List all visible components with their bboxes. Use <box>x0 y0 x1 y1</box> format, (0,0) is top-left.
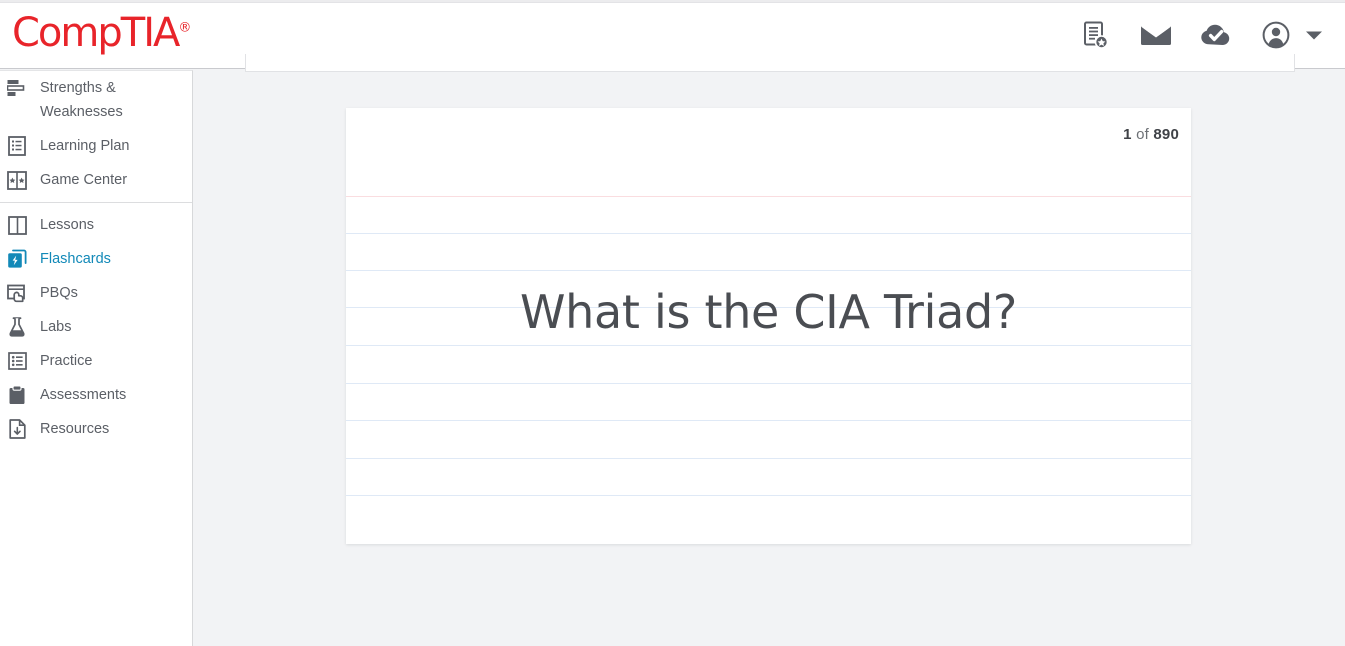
clipboard-icon <box>6 383 28 407</box>
sidebar-item-label: Assessments <box>40 383 126 407</box>
sidebar-item-label: Learning Plan <box>40 134 130 158</box>
chevron-down-icon[interactable] <box>1305 29 1323 41</box>
sidebar-item-resources[interactable]: Resources <box>0 412 192 446</box>
flashcard-counter-separator: of <box>1132 126 1154 143</box>
sidebar-item-game-center[interactable]: Game Center <box>0 163 192 197</box>
flask-icon <box>6 315 28 339</box>
content-panel-top-edge <box>245 54 1295 72</box>
sidebar-item-assessments[interactable]: Assessments <box>0 378 192 412</box>
main-content: 1 of 890 What is the CIA Triad? <box>193 70 1345 646</box>
sidebar-divider <box>0 202 192 203</box>
sidebar-item-label: Lessons <box>40 213 94 237</box>
flashcard-margin-rule <box>346 196 1191 197</box>
user-avatar-icon[interactable] <box>1259 17 1293 53</box>
flashcard-rule <box>346 345 1191 346</box>
pbq-click-icon <box>6 281 28 305</box>
flashcard-rule <box>346 495 1191 496</box>
flashcard-rule <box>346 383 1191 384</box>
sidebar-group-primary: Strengths & Weaknesses Learning Plan <box>0 71 192 197</box>
sidebar-item-labs[interactable]: Labs <box>0 310 192 344</box>
flashcard[interactable]: 1 of 890 What is the CIA Triad? <box>346 108 1191 544</box>
book-open-icon <box>6 213 28 237</box>
sidebar-nav: Strengths & Weaknesses Learning Plan <box>0 70 193 646</box>
flashcard-rule <box>346 420 1191 421</box>
flashcard-rule <box>346 270 1191 271</box>
list-checklist-icon <box>6 349 28 373</box>
sidebar-item-pbqs[interactable]: PBQs <box>0 276 192 310</box>
app-root: CompTIA® <box>0 0 1345 646</box>
cloud-check-icon[interactable] <box>1199 17 1233 53</box>
sidebar-group-study: Lessons Flashcards <box>0 208 192 446</box>
flashcard-rule <box>346 458 1191 459</box>
sidebar-item-lessons[interactable]: Lessons <box>0 208 192 242</box>
document-badge-icon[interactable] <box>1079 17 1113 53</box>
sidebar-item-label: Flashcards <box>40 247 111 271</box>
sidebar-item-label: PBQs <box>40 281 78 305</box>
comptia-logo-text: CompTIA <box>12 10 178 56</box>
sidebar-item-label: Labs <box>40 315 71 339</box>
sidebar-item-label: Strengths & Weaknesses <box>40 76 182 124</box>
flashcard-counter-total: 890 <box>1153 126 1179 143</box>
flashcard-bolt-icon <box>6 247 28 271</box>
sidebar-item-strengths-weaknesses[interactable]: Strengths & Weaknesses <box>0 71 192 129</box>
flashcard-counter: 1 of 890 <box>1123 126 1179 143</box>
flashcard-question: What is the CIA Triad? <box>346 286 1191 338</box>
sidebar-item-practice[interactable]: Practice <box>0 344 192 378</box>
bar-chart-icon <box>6 76 28 100</box>
flashcard-counter-current: 1 <box>1123 126 1132 143</box>
file-download-icon <box>6 417 28 441</box>
game-cards-icon <box>6 168 28 192</box>
sidebar-item-label: Resources <box>40 417 109 441</box>
clipboard-list-icon <box>6 134 28 158</box>
sidebar-item-flashcards[interactable]: Flashcards <box>0 242 192 276</box>
sidebar-item-label: Practice <box>40 349 92 373</box>
header-icon-group <box>1079 17 1323 53</box>
sidebar-item-learning-plan[interactable]: Learning Plan <box>0 129 192 163</box>
comptia-logo[interactable]: CompTIA® <box>12 10 191 56</box>
envelope-icon[interactable] <box>1139 17 1173 53</box>
flashcard-rule <box>346 233 1191 234</box>
comptia-logo-registered: ® <box>178 21 191 36</box>
sidebar-item-label: Game Center <box>40 168 127 192</box>
